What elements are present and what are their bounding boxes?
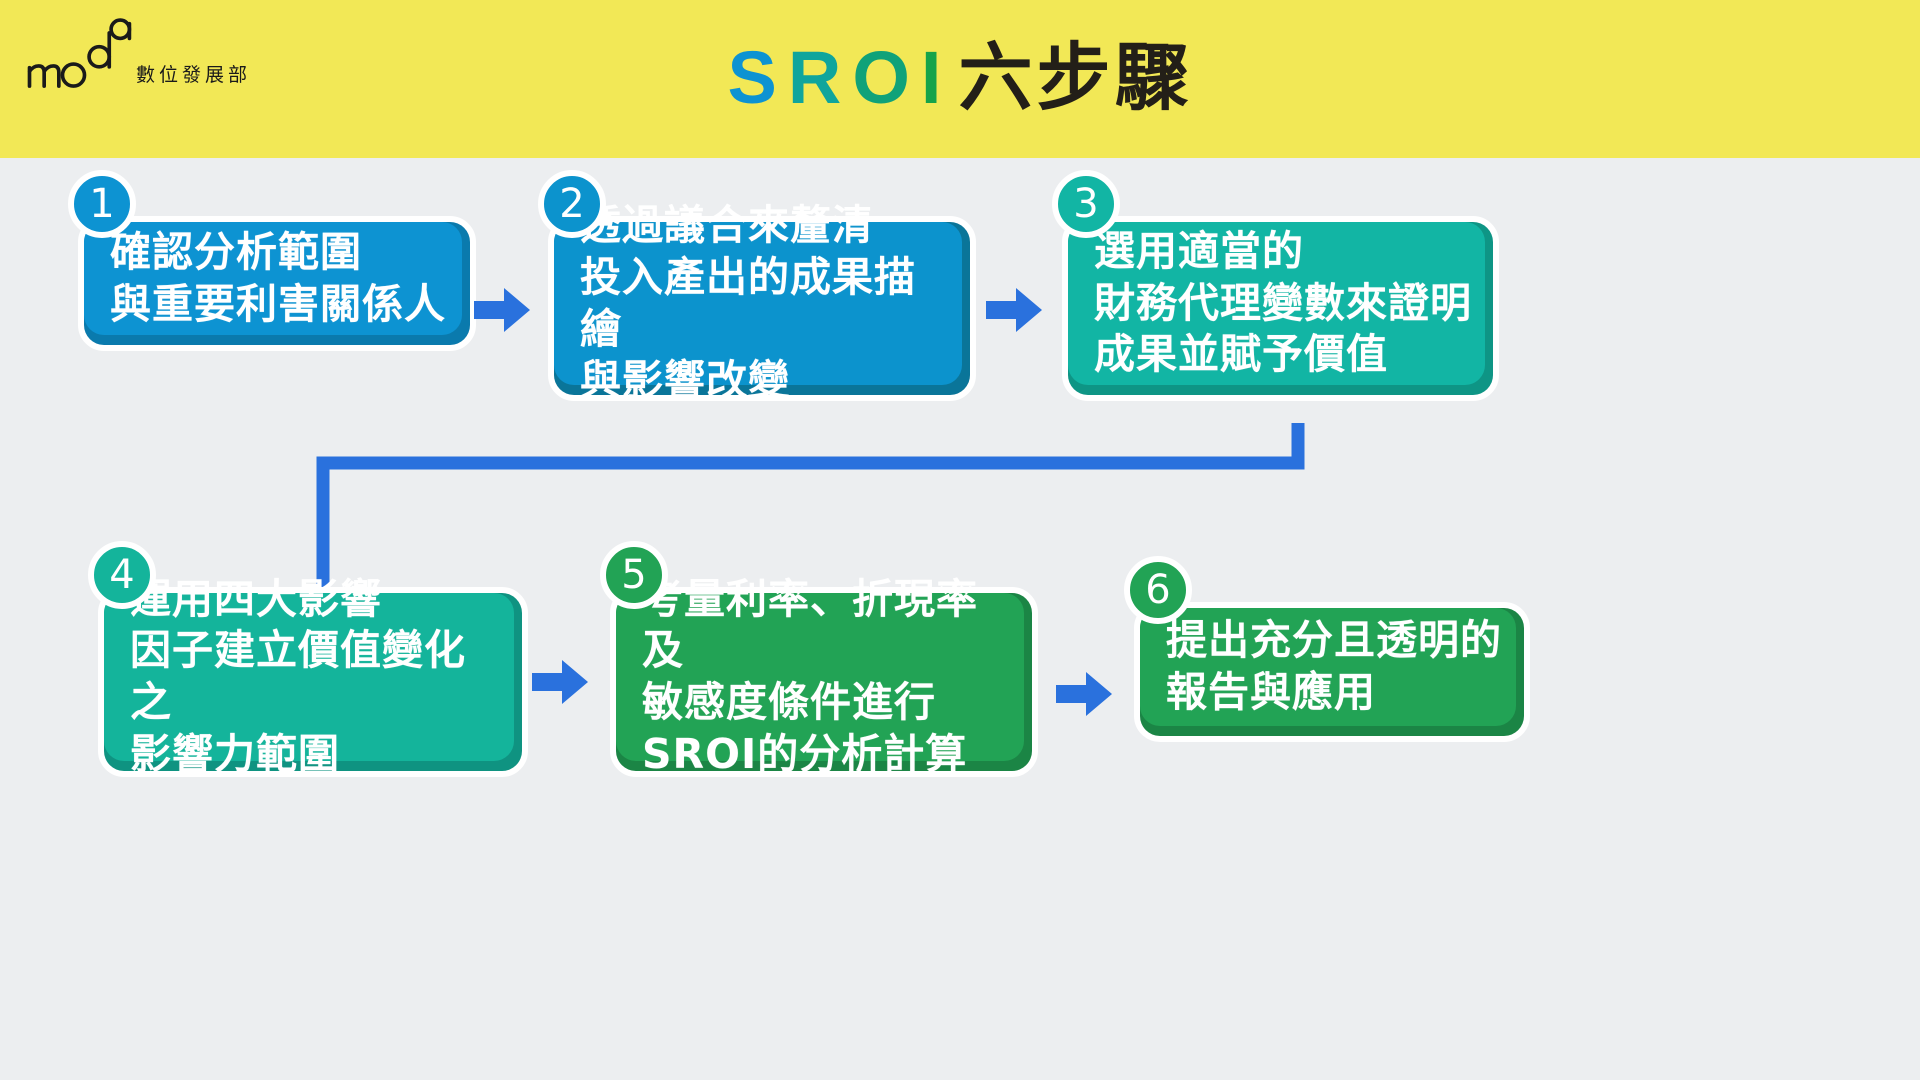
step-4-number: 4 bbox=[109, 552, 134, 598]
step-3-badge: 3 bbox=[1052, 170, 1120, 238]
step-6-card-face: 提出充分且透明的 報告與應用 bbox=[1140, 608, 1516, 726]
step-5-number: 5 bbox=[621, 552, 646, 598]
title-letter-r: R bbox=[788, 36, 852, 119]
page-title: SROI六步驟 bbox=[0, 18, 1920, 125]
step-4-card-face: 運用四大影響 因子建立價值變化之 影響力範圍 bbox=[104, 593, 514, 761]
step-3-number: 3 bbox=[1073, 181, 1098, 227]
step-6-card-outline: 提出充分且透明的 報告與應用 bbox=[1134, 602, 1530, 742]
step-2-card-face: 透過議合來釐清 投入產出的成果描繪 與影響改變 bbox=[554, 222, 962, 385]
step-2-text: 透過議合來釐清 投入產出的成果描繪 與影響改變 bbox=[580, 200, 952, 407]
title-letter-i: I bbox=[921, 36, 953, 119]
step-1-number: 1 bbox=[89, 181, 114, 227]
step-1-card-outline: 確認分析範圍 與重要利害關係人 bbox=[78, 216, 476, 351]
arrow-step4-to-step5 bbox=[532, 658, 590, 706]
step-2-number: 2 bbox=[559, 181, 584, 227]
step-1-card-shadow: 確認分析範圍 與重要利害關係人 bbox=[84, 222, 470, 345]
step-5-text: 考量利率、折現率及 敏感度條件進行 SROI的分析計算 bbox=[642, 574, 1014, 781]
title-letter-o: O bbox=[852, 36, 921, 119]
header-band: 數位發展部 SROI六步驟 bbox=[0, 0, 1920, 158]
step-3-card-face: 選用適當的 財務代理變數來證明 成果並賦予價值 bbox=[1068, 222, 1485, 385]
step-2-card-shadow: 透過議合來釐清 投入產出的成果描繪 與影響改變 bbox=[554, 222, 970, 395]
step-4-card-shadow: 運用四大影響 因子建立價值變化之 影響力範圍 bbox=[104, 593, 522, 771]
step-3-card-shadow: 選用適當的 財務代理變數來證明 成果並賦予價值 bbox=[1068, 222, 1493, 395]
title-letter-s: S bbox=[728, 36, 788, 119]
step-6-text: 提出充分且透明的 報告與應用 bbox=[1166, 615, 1502, 718]
step-5-badge: 5 bbox=[600, 541, 668, 609]
step-1-badge: 1 bbox=[68, 170, 136, 238]
step-3-card-outline: 選用適當的 財務代理變數來證明 成果並賦予價值 bbox=[1062, 216, 1499, 401]
arrow-step5-to-step6 bbox=[1056, 670, 1114, 718]
step-3-text: 選用適當的 財務代理變數來證明 成果並賦予價值 bbox=[1094, 226, 1472, 381]
step-5-card-face: 考量利率、折現率及 敏感度條件進行 SROI的分析計算 bbox=[616, 593, 1024, 761]
arrow-step1-to-step2 bbox=[474, 286, 532, 334]
step-4-text: 運用四大影響 因子建立價值變化之 影響力範圍 bbox=[130, 574, 504, 781]
step-6-card-shadow: 提出充分且透明的 報告與應用 bbox=[1140, 608, 1524, 736]
step-1-text: 確認分析範圍 與重要利害關係人 bbox=[110, 227, 446, 330]
title-han-suffix: 六步驟 bbox=[958, 35, 1192, 121]
step-5-card-shadow: 考量利率、折現率及 敏感度條件進行 SROI的分析計算 bbox=[616, 593, 1032, 771]
step-6-badge: 6 bbox=[1124, 556, 1192, 624]
flow-diagram: 1 確認分析範圍 與重要利害關係人 2 透過議合來釐清 投入產出的成果描繪 與影… bbox=[0, 158, 1920, 1080]
step-6-number: 6 bbox=[1145, 567, 1170, 613]
step-5-card-outline: 考量利率、折現率及 敏感度條件進行 SROI的分析計算 bbox=[610, 587, 1038, 777]
step-4-card-outline: 運用四大影響 因子建立價值變化之 影響力範圍 bbox=[98, 587, 528, 777]
arrow-step2-to-step3 bbox=[986, 286, 1044, 334]
step-2-badge: 2 bbox=[538, 170, 606, 238]
step-4-badge: 4 bbox=[88, 541, 156, 609]
step-2-card-outline: 透過議合來釐清 投入產出的成果描繪 與影響改變 bbox=[548, 216, 976, 401]
step-1-card-face: 確認分析範圍 與重要利害關係人 bbox=[84, 222, 462, 335]
